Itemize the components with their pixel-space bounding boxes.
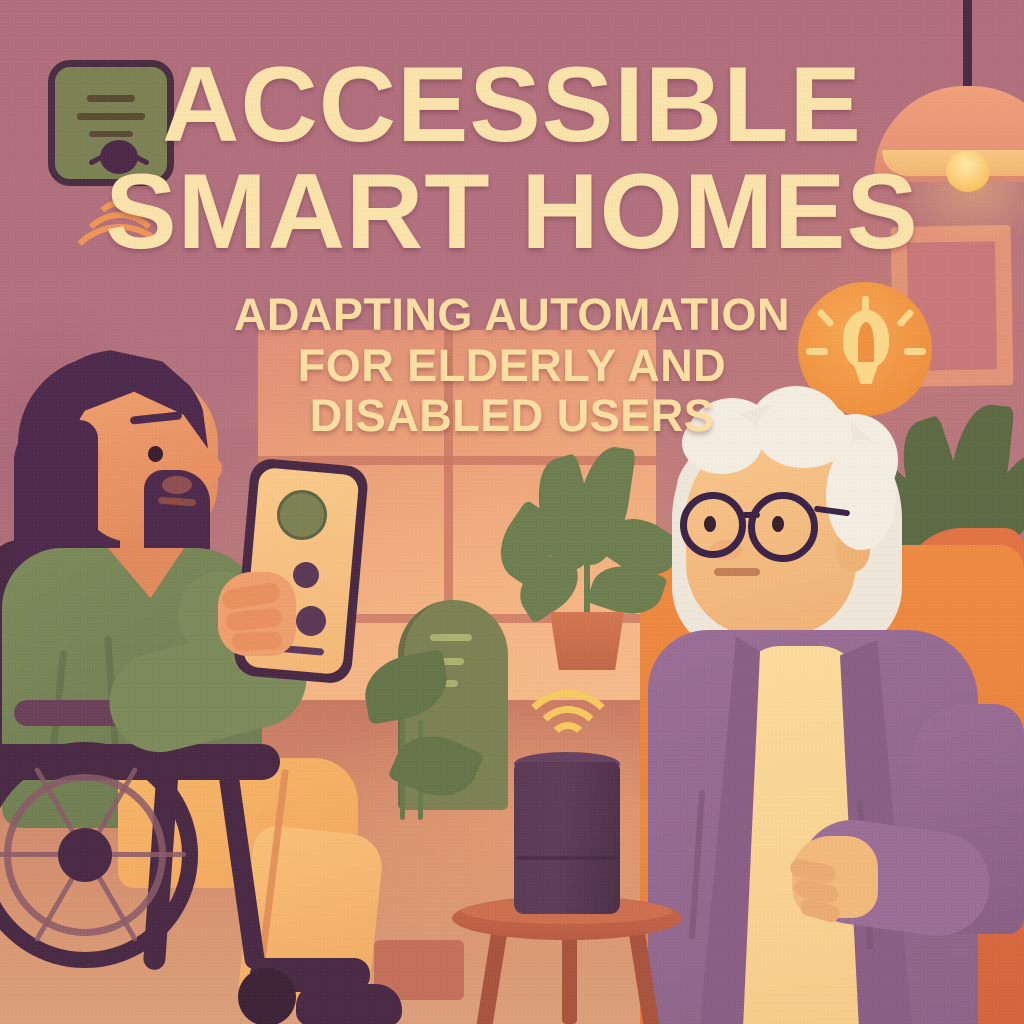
poster-subtitle-line1: ADAPTING AUTOMATION	[0, 290, 1024, 341]
elderly-glasses-bridge	[742, 512, 760, 518]
elderly-eye-right	[772, 516, 784, 532]
wheelchair-caster-wheel	[238, 968, 296, 1024]
wheelchair-hub	[58, 828, 112, 882]
woman-cheek	[162, 476, 192, 494]
poster-subtitle-line3: DISABLED USERS	[0, 391, 1024, 442]
woman-finger-3	[232, 631, 283, 651]
plant-pot	[550, 612, 624, 670]
elderly-mouth	[714, 568, 760, 576]
woman-eye	[148, 446, 163, 462]
poster-title-line2: SMART HOMES	[0, 159, 1024, 264]
poster-text-block: ACCESSIBLE SMART HOMES ADAPTING AUTOMATI…	[0, 52, 1024, 442]
elderly-eye-left	[704, 516, 716, 532]
smart-speaker[interactable]	[514, 762, 620, 914]
poster-subtitle-line2: FOR ELDERLY AND	[0, 341, 1024, 392]
table-leg-center	[562, 930, 577, 1024]
poster-title-line1: ACCESSIBLE	[0, 52, 1024, 157]
elderly-hair-side	[826, 440, 896, 550]
smart-speaker-seam	[516, 856, 618, 860]
poster-subtitle: ADAPTING AUTOMATION FOR ELDERLY AND DISA…	[0, 290, 1024, 443]
poster-illustration: ACCESSIBLE SMART HOMES ADAPTING AUTOMATI…	[0, 0, 1024, 1024]
arch-indicator-1	[430, 634, 472, 641]
